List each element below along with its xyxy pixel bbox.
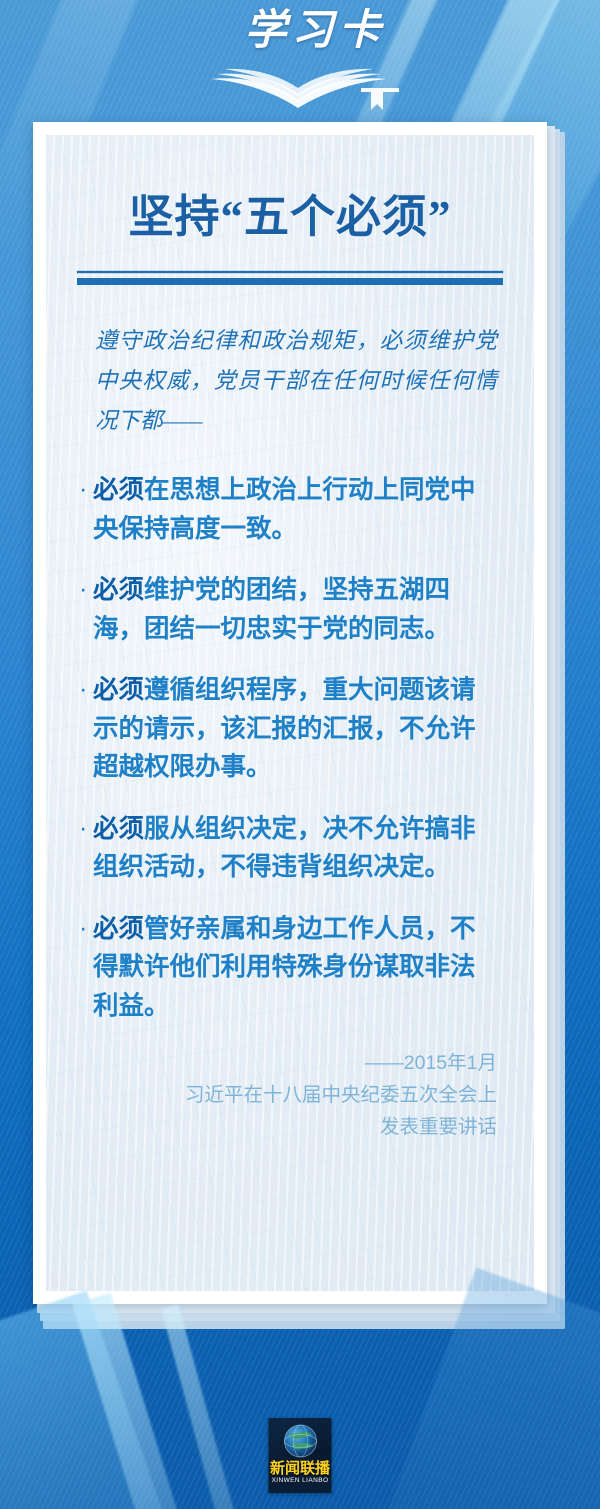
- poster-footer: 新闻联播 XINWEN LIANBO: [0, 1330, 600, 1509]
- bullet-marker: ·: [79, 571, 93, 609]
- brand-title: 学习卡: [215, 10, 415, 52]
- attribution: ——2015年1月 习近平在十八届中央纪委五次全会上 发表重要讲话: [77, 1048, 503, 1143]
- footer-light-ribbon: [161, 1304, 277, 1509]
- poster-root: 学习卡 坚持“五个必须”: [0, 0, 600, 1509]
- logo-chinese-text: 新闻联播: [269, 1461, 332, 1476]
- list-item-rest: 管好亲属和身边工作人员，不得默许他们利用特殊身份谋取非法利益。: [93, 915, 476, 1020]
- list-item-text: 必须管好亲属和身边工作人员，不得默许他们利用特殊身份谋取非法利益。: [93, 910, 499, 1026]
- card-paper: 坚持“五个必须” 遵守政治纪律和政治规矩，必须维护党中央权威，党员干部在任何时候…: [46, 135, 534, 1291]
- list-item-text: 必须遵循组织程序，重大问题该请示的请示，该汇报的汇报，不允许超越权限办事。: [93, 671, 499, 787]
- bullet-marker: ·: [79, 671, 93, 709]
- list-item: · 必须服从组织决定，决不允许搞非组织活动，不得违背组织决定。: [79, 810, 499, 887]
- list-item-lead: 必须: [93, 576, 144, 604]
- globe-icon: [280, 1422, 320, 1462]
- brand-logo: 学习卡: [185, 10, 415, 114]
- list-item: · 必须遵循组织程序，重大问题该请示的请示，该汇报的汇报，不允许超越权限办事。: [79, 671, 499, 787]
- content-card: 坚持“五个必须” 遵守政治纪律和政治规矩，必须维护党中央权威，党员干部在任何时候…: [33, 122, 547, 1304]
- list-item: · 必须在思想上政治上行动上同党中央保持高度一致。: [79, 471, 499, 548]
- list-item-lead: 必须: [93, 676, 144, 704]
- title-divider: [77, 271, 503, 285]
- list-item-lead: 必须: [93, 476, 144, 504]
- page-title: 坚持“五个必须”: [77, 189, 503, 245]
- list-item-lead: 必须: [93, 915, 144, 943]
- attribution-line: ——2015年1月: [77, 1048, 497, 1080]
- open-book-icon: [185, 52, 415, 114]
- list-item-rest: 遵循组织程序，重大问题该请示的请示，该汇报的汇报，不允许超越权限办事。: [93, 676, 476, 781]
- list-item-text: 必须服从组织决定，决不允许搞非组织活动，不得违背组织决定。: [93, 810, 499, 887]
- logo-english-text: XINWEN LIANBO: [269, 1478, 332, 1485]
- list-item: · 必须管好亲属和身边工作人员，不得默许他们利用特殊身份谋取非法利益。: [79, 910, 499, 1026]
- divider-thick-line: [77, 278, 503, 285]
- card-content: 坚持“五个必须” 遵守政治纪律和政治规矩，必须维护党中央权威，党员干部在任何时候…: [46, 135, 534, 1291]
- list-item-rest: 服从组织决定，决不允许搞非组织活动，不得违背组织决定。: [93, 815, 476, 882]
- poster-header: 学习卡: [0, 0, 600, 122]
- attribution-line: 发表重要讲话: [77, 1112, 497, 1144]
- bullet-list: · 必须在思想上政治上行动上同党中央保持高度一致。 · 必须维护党的团结，坚持五…: [77, 471, 503, 1025]
- list-item: · 必须维护党的团结，坚持五湖四海，团结一切忠实于党的同志。: [79, 571, 499, 648]
- list-item-text: 必须在思想上政治上行动上同党中央保持高度一致。: [93, 471, 499, 548]
- list-item-text: 必须维护党的团结，坚持五湖四海，团结一切忠实于党的同志。: [93, 571, 499, 648]
- bullet-marker: ·: [79, 471, 93, 509]
- intro-paragraph: 遵守政治纪律和政治规矩，必须维护党中央权威，党员干部在任何时候任何情况下都——: [77, 321, 503, 441]
- bullet-marker: ·: [79, 910, 93, 948]
- list-item-lead: 必须: [93, 815, 144, 843]
- xinwen-lianbo-logo: 新闻联播 XINWEN LIANBO: [269, 1418, 332, 1493]
- list-item-rest: 维护党的团结，坚持五湖四海，团结一切忠实于党的同志。: [93, 576, 450, 643]
- list-item-rest: 在思想上政治上行动上同党中央保持高度一致。: [93, 476, 476, 543]
- bullet-marker: ·: [79, 810, 93, 848]
- attribution-line: 习近平在十八届中央纪委五次全会上: [77, 1080, 497, 1112]
